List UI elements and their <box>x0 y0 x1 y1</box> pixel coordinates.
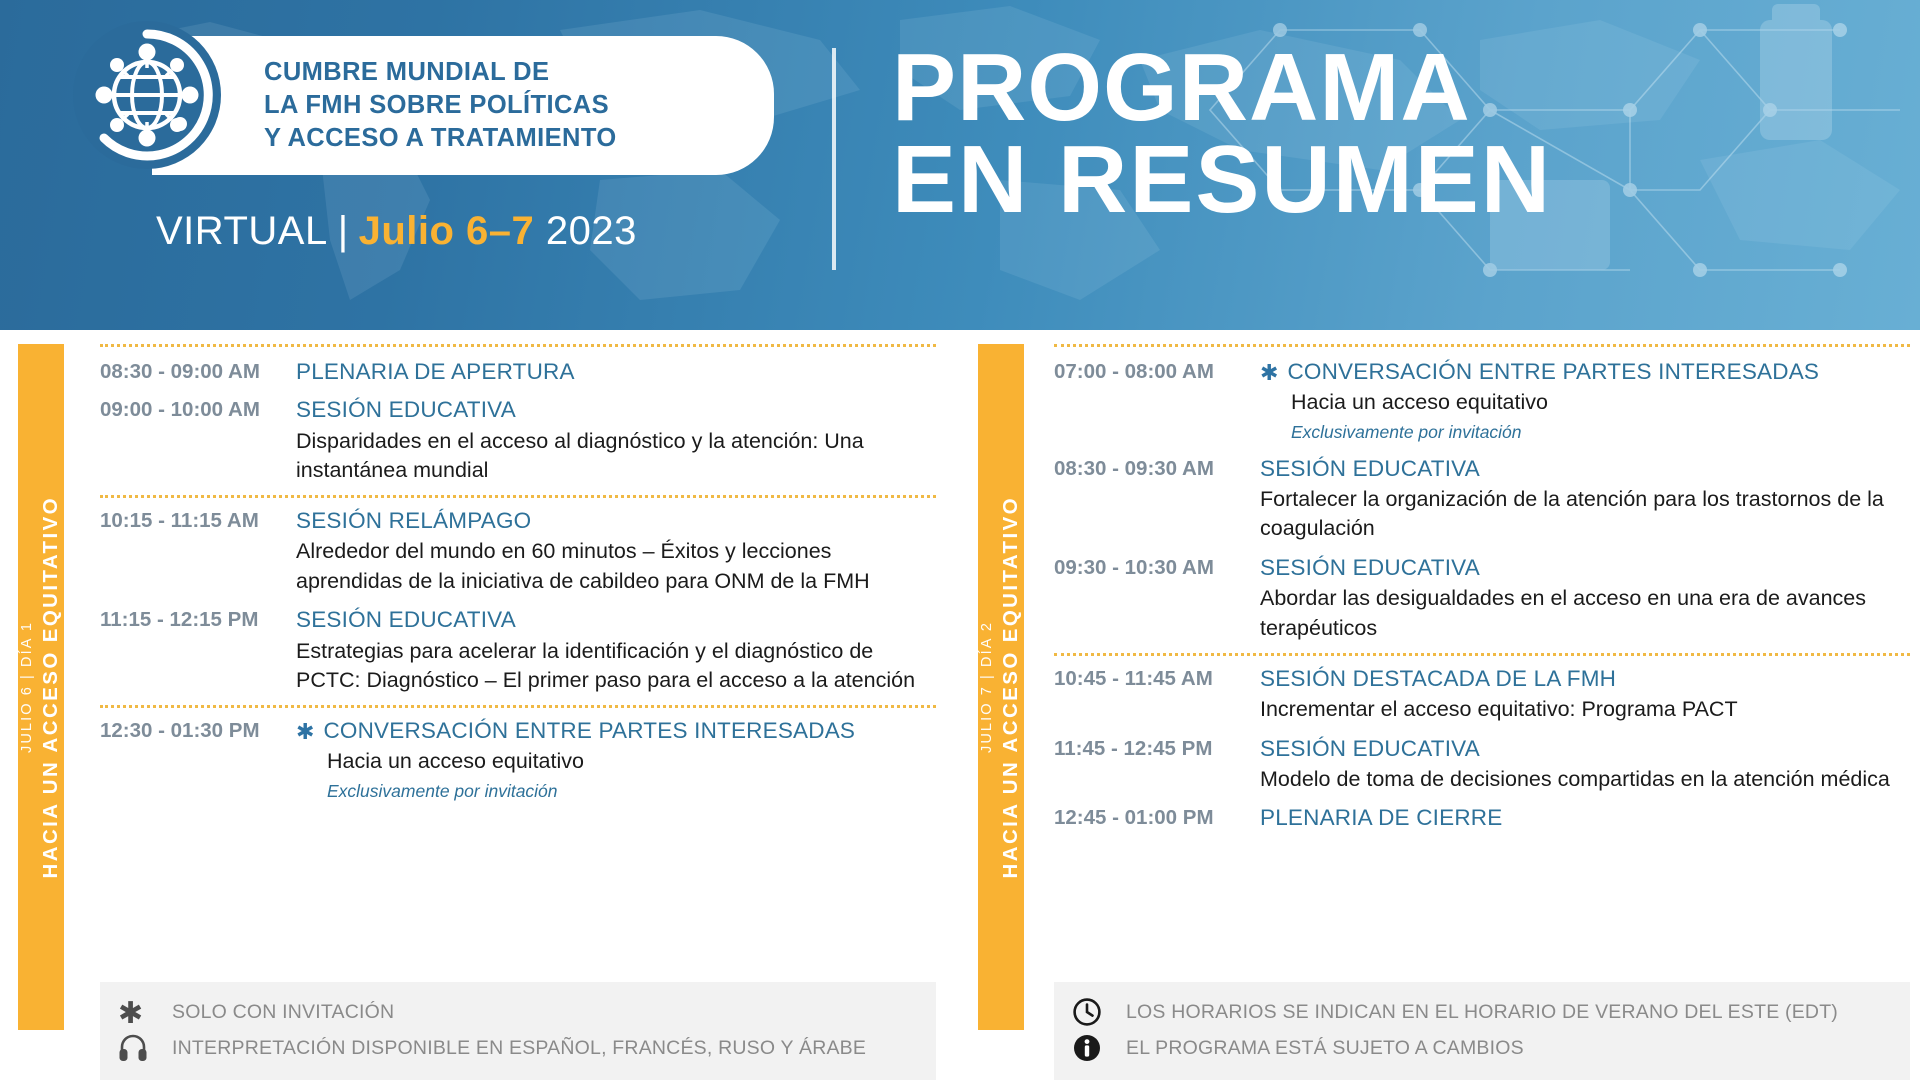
session-row[interactable]: 12:30 - 01:30 PM ✱ CONVERSACIÓN ENTRE PA… <box>100 716 936 804</box>
logo-line-2: LA FMH SOBRE POLÍTICAS <box>264 89 617 122</box>
day-1-theme: HACIA UN ACCESO EQUITATIVO <box>39 496 63 878</box>
schedule-divider <box>1054 653 1910 656</box>
session-description: Abordar las desigualdades en el acceso e… <box>1260 584 1910 643</box>
legend-item: EL PROGRAMA ESTÁ SUJETO A CAMBIOS <box>1072 1030 1892 1066</box>
session-title: CONVERSACIÓN ENTRE PARTES INTERESADAS <box>323 716 855 745</box>
session-description: Hacia un acceso equitativo <box>1291 388 1910 418</box>
logo-line-1: CUMBRE MUNDIAL DE <box>264 56 617 89</box>
session-heading: SESIÓN DESTACADA DE LA FMH <box>1260 664 1910 693</box>
session-description: Fortalecer la organización de la atenció… <box>1260 485 1910 544</box>
info-glyph <box>1072 1033 1102 1063</box>
session-time: 10:45 - 11:45 AM <box>1054 664 1260 693</box>
session-entry: SESIÓN DESTACADA DE LA FMH Incrementar e… <box>1260 664 1910 725</box>
session-row[interactable]: 08:30 - 09:00 AM PLENARIA DE APERTURA <box>100 357 936 386</box>
event-logo-title: CUMBRE MUNDIAL DE LA FMH SOBRE POLÍTICAS… <box>264 56 617 155</box>
day-2-column: HACIA UN ACCESO EQUITATIVO JULIO 7 | DÍA… <box>960 330 1920 1080</box>
legend-label: LOS HORARIOS SE INDICAN EN EL HORARIO DE… <box>1126 1001 1838 1024</box>
session-title: SESIÓN EDUCATIVA <box>296 395 516 424</box>
schedule-divider <box>100 344 936 347</box>
day-2-sidebar: HACIA UN ACCESO EQUITATIVO JULIO 7 | DÍA… <box>978 344 1024 1030</box>
day-2-legend: LOS HORARIOS SE INDICAN EN EL HORARIO DE… <box>1054 982 1910 1080</box>
clock-glyph <box>1072 997 1102 1027</box>
session-title: SESIÓN DESTACADA DE LA FMH <box>1260 664 1616 693</box>
session-time: 09:30 - 10:30 AM <box>1054 553 1260 582</box>
day-2-schedule: 07:00 - 08:00 AM ✱ CONVERSACIÓN ENTRE PA… <box>1054 344 1910 833</box>
session-title: SESIÓN EDUCATIVA <box>1260 553 1480 582</box>
session-description: Modelo de toma de decisiones compartidas… <box>1260 765 1910 795</box>
session-title: SESIÓN EDUCATIVA <box>1260 734 1480 763</box>
day-2-theme: HACIA UN ACCESO EQUITATIVO <box>999 496 1023 878</box>
session-time: 10:15 - 11:15 AM <box>100 506 296 535</box>
page-title: PROGRAMA EN RESUMEN <box>892 42 1552 226</box>
schedule-divider <box>100 495 936 498</box>
event-format-label: VIRTUAL <box>156 209 328 253</box>
event-logo-block: CUMBRE MUNDIAL DE LA FMH SOBRE POLÍTICAS… <box>60 36 760 254</box>
session-row[interactable]: 10:45 - 11:45 AM SESIÓN DESTACADA DE LA … <box>1054 664 1910 725</box>
legend-item: ✱ SOLO CON INVITACIÓN <box>118 994 918 1030</box>
session-time: 12:30 - 01:30 PM <box>100 716 296 745</box>
session-note: Exclusivamente por invitación <box>1291 421 1910 445</box>
session-description: Disparidades en el acceso al diagnóstico… <box>296 427 936 486</box>
page-title-line-2: EN RESUMEN <box>892 134 1552 226</box>
session-title: PLENARIA DE CIERRE <box>1260 803 1502 832</box>
invitation-only-star-icon: ✱ <box>1260 362 1278 384</box>
globe-molecule-logo-icon <box>72 20 222 170</box>
page-title-line-1: PROGRAMA <box>892 42 1552 134</box>
session-description: Incrementar el acceso equitativo: Progra… <box>1260 695 1910 725</box>
session-heading: SESIÓN EDUCATIVA <box>1260 553 1910 582</box>
date-separator: | <box>338 209 349 253</box>
session-time: 11:45 - 12:45 PM <box>1054 734 1260 763</box>
session-time: 08:30 - 09:00 AM <box>100 357 296 386</box>
session-row[interactable]: 08:30 - 09:30 AM SESIÓN EDUCATIVA Fortal… <box>1054 454 1910 545</box>
session-heading: ✱ CONVERSACIÓN ENTRE PARTES INTERESADAS <box>1260 357 1910 386</box>
session-entry: SESIÓN EDUCATIVA Fortalecer la organizac… <box>1260 454 1910 545</box>
session-heading: SESIÓN EDUCATIVA <box>1260 454 1910 483</box>
program-at-a-glance-page: CUMBRE MUNDIAL DE LA FMH SOBRE POLÍTICAS… <box>0 0 1920 1080</box>
headphones-glyph <box>118 1034 148 1062</box>
session-entry: ✱ CONVERSACIÓN ENTRE PARTES INTERESADAS … <box>296 716 936 804</box>
session-row[interactable]: 11:15 - 12:15 PM SESIÓN EDUCATIVA Estrat… <box>100 605 936 696</box>
session-title: CONVERSACIÓN ENTRE PARTES INTERESADAS <box>1287 357 1819 386</box>
legend-label: SOLO CON INVITACIÓN <box>172 1001 394 1024</box>
headphones-icon <box>118 1034 172 1062</box>
event-year: 2023 <box>546 209 637 253</box>
schedule-divider <box>1054 344 1910 347</box>
legend-label: INTERPRETACIÓN DISPONIBLE EN ESPAÑOL, FR… <box>172 1037 866 1060</box>
info-icon <box>1072 1033 1126 1063</box>
session-entry: SESIÓN EDUCATIVA Modelo de toma de decis… <box>1260 734 1910 795</box>
schedule-columns: HACIA UN ACCESO EQUITATIVO JULIO 6 | DÍA… <box>0 330 1920 1080</box>
session-entry: ✱ CONVERSACIÓN ENTRE PARTES INTERESADAS … <box>1260 357 1910 445</box>
session-description: Alrededor del mundo en 60 minutos – Éxit… <box>296 537 936 596</box>
invitation-only-star-icon: ✱ <box>296 721 314 743</box>
session-row[interactable]: 11:45 - 12:45 PM SESIÓN EDUCATIVA Modelo… <box>1054 734 1910 795</box>
event-dates: Julio 6–7 <box>359 209 535 253</box>
session-time: 07:00 - 08:00 AM <box>1054 357 1260 386</box>
session-heading: PLENARIA DE APERTURA <box>296 357 936 386</box>
session-row[interactable]: 10:15 - 11:15 AM SESIÓN RELÁMPAGO Alrede… <box>100 506 936 597</box>
session-entry: PLENARIA DE CIERRE <box>1260 803 1910 832</box>
day-1-sidebar: HACIA UN ACCESO EQUITATIVO JULIO 6 | DÍA… <box>18 344 64 1030</box>
session-heading: SESIÓN EDUCATIVA <box>296 395 936 424</box>
session-heading: ✱ CONVERSACIÓN ENTRE PARTES INTERESADAS <box>296 716 936 745</box>
day-1-date: JULIO 6 | DÍA 1 <box>19 621 35 753</box>
event-date-line: VIRTUAL|Julio 6–7 2023 <box>156 209 760 254</box>
session-time: 11:15 - 12:15 PM <box>100 605 296 634</box>
day-1-column: HACIA UN ACCESO EQUITATIVO JULIO 6 | DÍA… <box>0 330 960 1080</box>
session-heading: PLENARIA DE CIERRE <box>1260 803 1910 832</box>
day-2-date: JULIO 7 | DÍA 2 <box>979 621 995 753</box>
session-description: Hacia un acceso equitativo <box>327 747 936 777</box>
day-1-schedule: 08:30 - 09:00 AM PLENARIA DE APERTURA 09… <box>100 344 936 804</box>
session-note: Exclusivamente por invitación <box>327 780 936 804</box>
session-title: SESIÓN EDUCATIVA <box>296 605 516 634</box>
asterisk-icon: ✱ <box>118 997 172 1027</box>
session-heading: SESIÓN RELÁMPAGO <box>296 506 936 535</box>
legend-item: LOS HORARIOS SE INDICAN EN EL HORARIO DE… <box>1072 994 1892 1030</box>
event-logo-pill: CUMBRE MUNDIAL DE LA FMH SOBRE POLÍTICAS… <box>152 36 774 175</box>
schedule-divider <box>100 705 936 708</box>
session-entry: SESIÓN EDUCATIVA Abordar las desigualdad… <box>1260 553 1910 644</box>
session-description: Estrategias para acelerar la identificac… <box>296 637 936 696</box>
session-entry: SESIÓN EDUCATIVA Estrategias para aceler… <box>296 605 936 696</box>
session-row[interactable]: 12:45 - 01:00 PM PLENARIA DE CIERRE <box>1054 803 1910 832</box>
session-entry: SESIÓN RELÁMPAGO Alrededor del mundo en … <box>296 506 936 597</box>
day-1-legend: ✱ SOLO CON INVITACIÓN INTERPRETACIÓN DIS… <box>100 982 936 1080</box>
session-entry: SESIÓN EDUCATIVA Disparidades en el acce… <box>296 395 936 486</box>
session-row[interactable]: 07:00 - 08:00 AM ✱ CONVERSACIÓN ENTRE PA… <box>1054 357 1910 445</box>
legend-label: EL PROGRAMA ESTÁ SUJETO A CAMBIOS <box>1126 1037 1524 1060</box>
logo-line-3: Y ACCESO A TRATAMIENTO <box>264 122 617 155</box>
session-title: PLENARIA DE APERTURA <box>296 357 575 386</box>
session-time: 09:00 - 10:00 AM <box>100 395 296 424</box>
session-title: SESIÓN RELÁMPAGO <box>296 506 531 535</box>
header-vertical-divider <box>832 48 836 270</box>
clock-icon <box>1072 997 1126 1027</box>
session-entry: PLENARIA DE APERTURA <box>296 357 936 386</box>
session-time: 08:30 - 09:30 AM <box>1054 454 1260 483</box>
session-row[interactable]: 09:30 - 10:30 AM SESIÓN EDUCATIVA Aborda… <box>1054 553 1910 644</box>
session-heading: SESIÓN EDUCATIVA <box>1260 734 1910 763</box>
session-title: SESIÓN EDUCATIVA <box>1260 454 1480 483</box>
session-time: 12:45 - 01:00 PM <box>1054 803 1260 832</box>
legend-item: INTERPRETACIÓN DISPONIBLE EN ESPAÑOL, FR… <box>118 1030 918 1066</box>
session-row[interactable]: 09:00 - 10:00 AM SESIÓN EDUCATIVA Dispar… <box>100 395 936 486</box>
header-banner: CUMBRE MUNDIAL DE LA FMH SOBRE POLÍTICAS… <box>0 0 1920 330</box>
session-heading: SESIÓN EDUCATIVA <box>296 605 936 634</box>
